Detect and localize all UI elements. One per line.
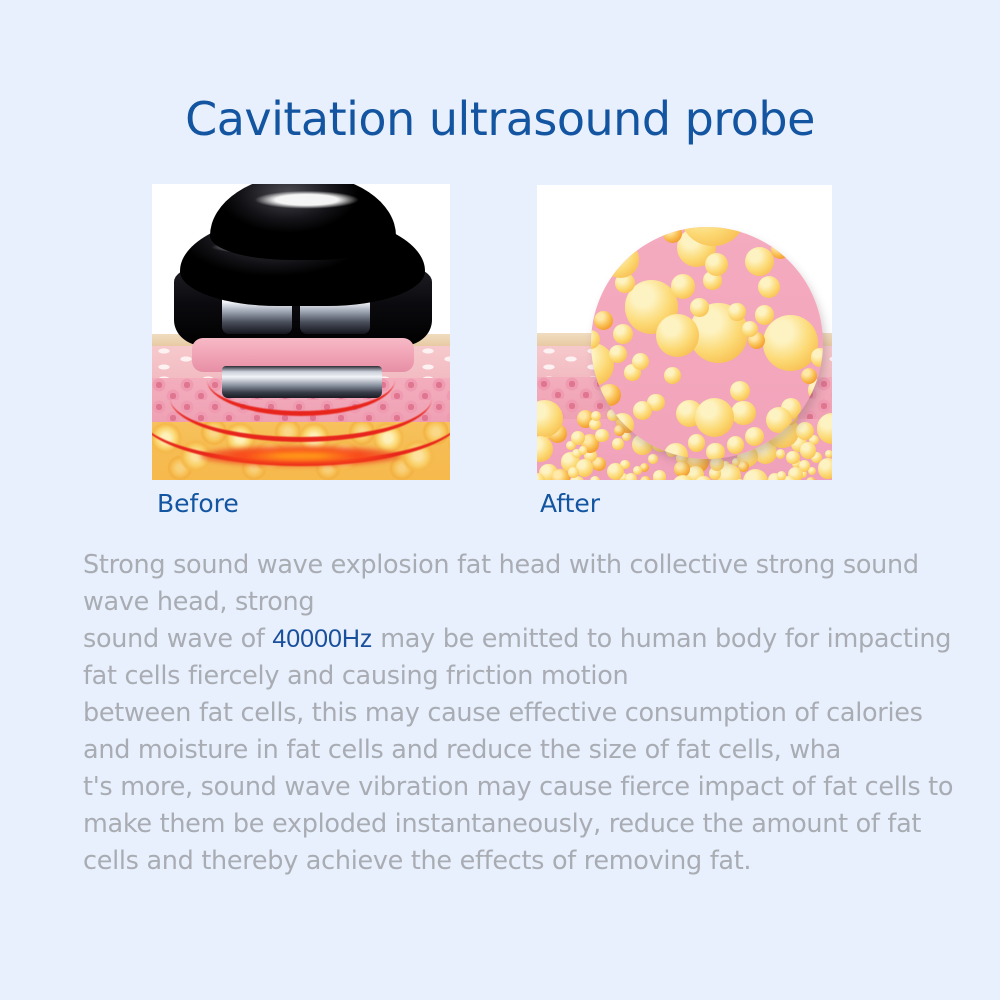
- fat-cell: [705, 253, 728, 276]
- fat-cell: [633, 401, 652, 420]
- fat-cell: [728, 303, 745, 320]
- fat-cell: [731, 401, 755, 425]
- fat-cell: [664, 443, 688, 459]
- fat-cell: [611, 413, 635, 437]
- caption-after: After: [540, 489, 600, 518]
- fat-cell: [594, 311, 613, 330]
- fat-cell: [727, 436, 745, 454]
- description-part-2-prefix: sound wave of: [83, 624, 272, 654]
- fat-cell: [796, 422, 814, 440]
- fat-cell: [598, 384, 621, 407]
- fat-cell: [776, 449, 785, 458]
- before-image: [152, 184, 450, 480]
- fat-cell: [640, 476, 651, 480]
- fat-cell: [671, 274, 696, 299]
- fat-cell: [595, 429, 609, 443]
- fat-cell: [688, 434, 705, 451]
- fat-cell: [763, 315, 818, 370]
- fat-cell: [664, 367, 681, 384]
- description-part-1: Strong sound wave explosion fat head wit…: [83, 550, 919, 617]
- page-title: Cavitation ultrasound probe: [0, 92, 1000, 146]
- fat-cell: [755, 305, 775, 325]
- fat-cell: [609, 345, 627, 363]
- caption-before: Before: [157, 489, 239, 518]
- frequency-highlight: 40000Hz: [272, 625, 372, 653]
- magnified-fat-cells-circle: [591, 227, 823, 459]
- fat-cell: [551, 469, 570, 480]
- product-description: Strong sound wave explosion fat head wit…: [83, 547, 973, 880]
- fat-cell: [706, 443, 724, 459]
- fat-cell: [777, 471, 787, 480]
- fat-cell: [758, 276, 780, 298]
- probe-dome-top: [210, 184, 396, 260]
- fat-cell: [771, 240, 790, 259]
- fat-cell: [602, 241, 639, 278]
- fat-cell: [690, 298, 709, 317]
- description-part-4: t's more, sound wave vibration may cause…: [83, 772, 953, 876]
- after-image: [537, 185, 832, 480]
- fat-cell: [568, 467, 579, 478]
- fat-cell: [579, 446, 587, 454]
- fat-cell: [590, 476, 600, 481]
- fat-cell: [786, 451, 799, 464]
- fat-cell: [825, 450, 832, 458]
- fat-cell: [806, 477, 816, 480]
- fat-cell: [811, 348, 823, 367]
- fat-cell: [613, 324, 633, 344]
- fat-cell: [818, 458, 832, 478]
- fat-cell: [632, 353, 649, 370]
- description-part-3: between fat cells, this may cause effect…: [83, 698, 923, 765]
- fat-cell: [653, 470, 667, 480]
- fat-cell: [745, 247, 774, 276]
- fat-cell: [612, 438, 623, 449]
- fat-cell: [648, 454, 658, 464]
- fat-cell: [730, 381, 750, 401]
- fat-cell: [656, 314, 699, 357]
- cavitation-hotspot: [200, 446, 400, 466]
- probe-chrome-head: [222, 366, 382, 398]
- fat-cell: [674, 461, 689, 476]
- fat-cell: [745, 427, 764, 446]
- product-infographic: Cavitation ultrasound probe Before After: [0, 0, 1000, 1000]
- fat-cell: [695, 398, 734, 437]
